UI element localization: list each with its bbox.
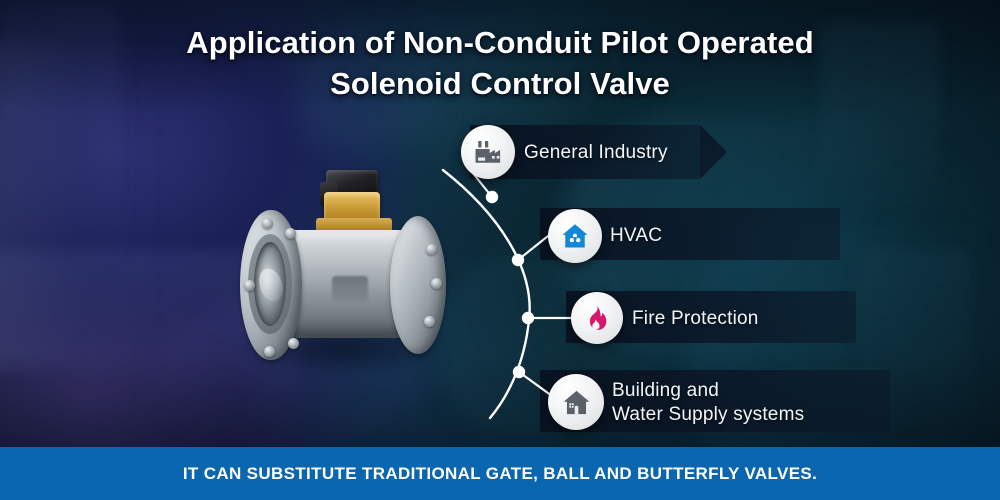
application-label-building-water: Building and Water Supply systems: [612, 379, 804, 428]
factory-icon: [473, 137, 503, 167]
product-application-banner: Application of Non-Conduit Pilot Operate…: [0, 0, 1000, 500]
hvac-house-icon: [559, 220, 591, 252]
application-icon-general-industry[interactable]: [461, 125, 515, 179]
footer-banner: IT CAN SUBSTITUTE TRADITIONAL GATE, BALL…: [0, 447, 1000, 500]
page-title: Application of Non-Conduit Pilot Operate…: [0, 22, 1000, 104]
application-icon-building-water[interactable]: [548, 374, 604, 430]
application-icon-hvac[interactable]: [548, 209, 602, 263]
flange-bolt: [244, 280, 255, 291]
page-title-line-2: Solenoid Control Valve: [0, 63, 1000, 104]
home-icon: [561, 387, 592, 418]
application-icon-fire-protection[interactable]: [571, 292, 623, 344]
page-title-line-1: Application of Non-Conduit Pilot Operate…: [186, 25, 814, 60]
application-label-general-industry: General Industry: [524, 141, 668, 165]
flange-bolt: [431, 278, 442, 289]
flange-bolt: [262, 218, 273, 229]
flange-bolt: [288, 338, 299, 349]
application-label-hvac: HVAC: [610, 224, 662, 248]
flange-bolt: [424, 316, 435, 327]
flange-bolt: [264, 346, 275, 357]
valve-bore-inner: [254, 242, 286, 326]
flame-icon: [583, 304, 611, 332]
application-label-fire-protection: Fire Protection: [632, 307, 759, 331]
product-image: [228, 168, 468, 378]
footer-text: IT CAN SUBSTITUTE TRADITIONAL GATE, BALL…: [183, 464, 817, 484]
flange-bolt: [285, 228, 296, 239]
flange-bolt: [426, 244, 437, 255]
